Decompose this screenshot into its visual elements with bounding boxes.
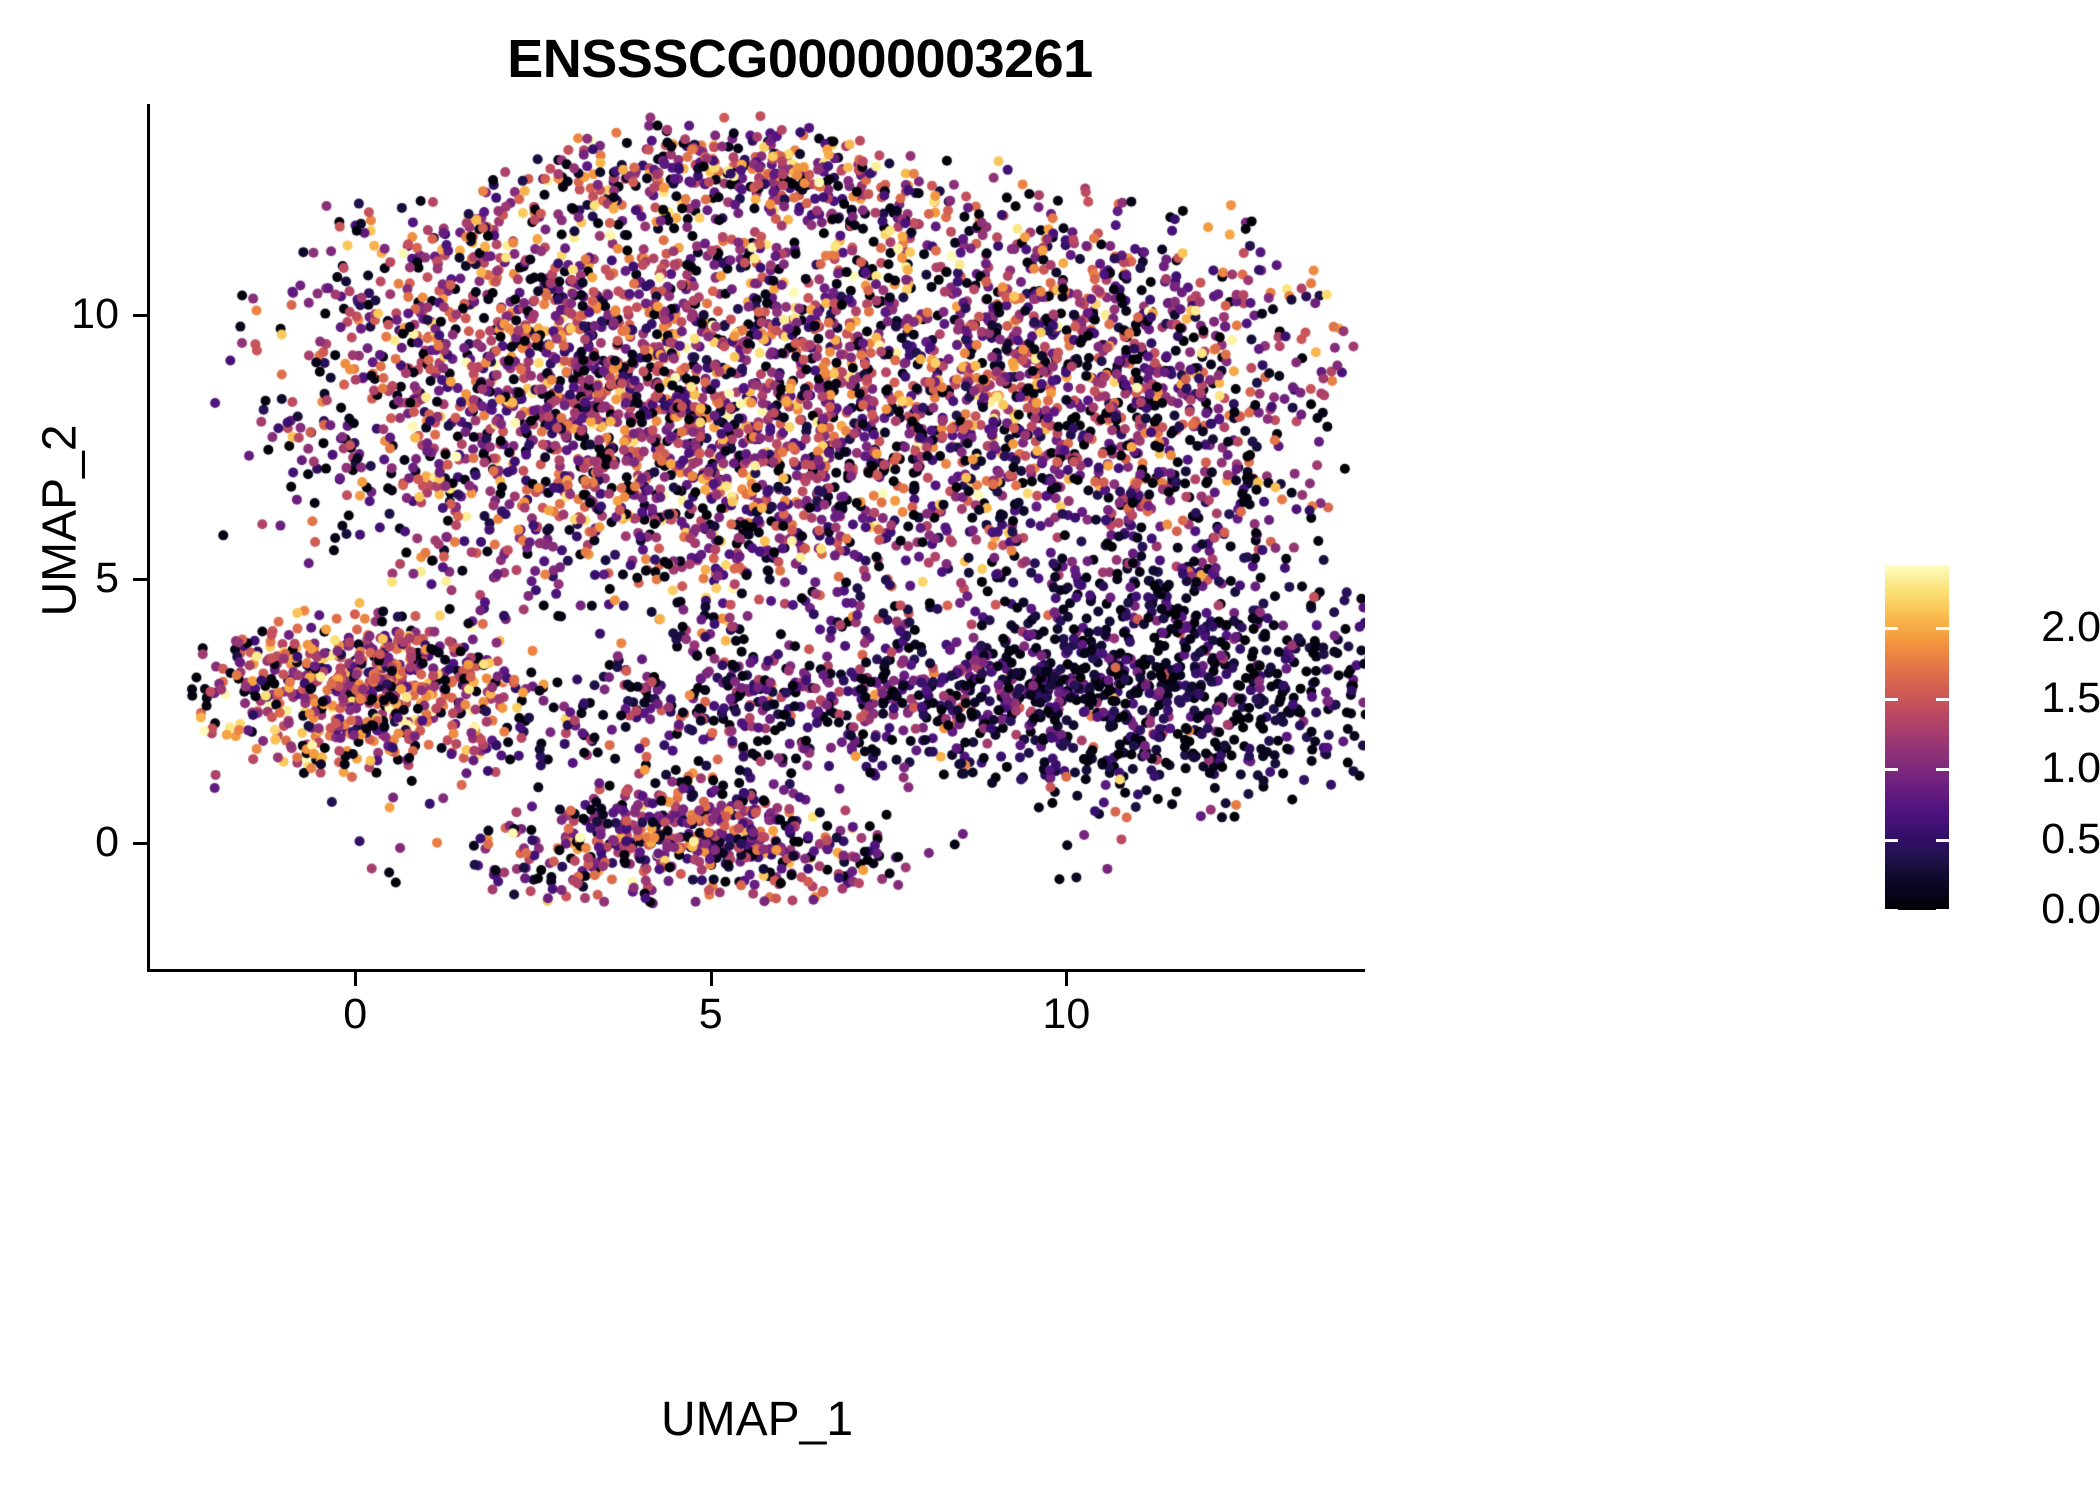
- x-tick-label-10: 10: [996, 993, 1136, 1036]
- colorbar-gradient: [1885, 565, 1949, 910]
- umap-feature-plot: ENSSSCG00000003261 10 5 0 0 5 10 UMAP_1 …: [0, 0, 2100, 1500]
- colorbar-label-2.0: 2.0: [1971, 606, 2100, 649]
- colorbar-tick-1.0: [1936, 768, 1949, 771]
- colorbar-legend: 2.0 1.5 1.0 0.5 0.0: [1885, 565, 2085, 915]
- x-tick-label-5: 5: [641, 993, 781, 1036]
- x-tick-label-0: 0: [285, 993, 425, 1036]
- y-tick-label-0: 0: [0, 821, 119, 864]
- colorbar-tick-1.5: [1936, 698, 1949, 701]
- colorbar-tick-2.0: [1885, 627, 1898, 630]
- x-tick-mark-0: [354, 972, 357, 986]
- colorbar-label-0.5: 0.5: [1971, 818, 2100, 861]
- y-tick-mark-5: [133, 578, 147, 581]
- x-tick-mark-5: [710, 972, 713, 986]
- colorbar-tick-0.5: [1936, 839, 1949, 842]
- y-axis-title: UMAP_2: [33, 261, 88, 781]
- colorbar-label-1.0: 1.0: [1971, 747, 2100, 790]
- colorbar-tick-1.0: [1885, 768, 1898, 771]
- x-axis-title: UMAP_1: [149, 1392, 1365, 1447]
- x-tick-mark-10: [1065, 972, 1068, 986]
- colorbar-tick-1.5: [1885, 698, 1898, 701]
- plot-panel: [149, 104, 1365, 970]
- page-title: ENSSSCG00000003261: [0, 28, 1600, 90]
- colorbar-label-0.0: 0.0: [1971, 888, 2100, 931]
- colorbar-tick-2.0: [1936, 627, 1949, 630]
- colorbar-tick-0.0: [1885, 909, 1898, 912]
- x-axis-line: [147, 969, 1365, 972]
- colorbar-label-1.5: 1.5: [1971, 677, 2100, 720]
- y-tick-mark-10: [133, 314, 147, 317]
- scatter-points-canvas: [149, 104, 1365, 970]
- y-tick-mark-0: [133, 842, 147, 845]
- colorbar-tick-0.5: [1885, 839, 1898, 842]
- colorbar-tick-0.0: [1936, 909, 1949, 912]
- y-axis-line: [147, 104, 150, 972]
